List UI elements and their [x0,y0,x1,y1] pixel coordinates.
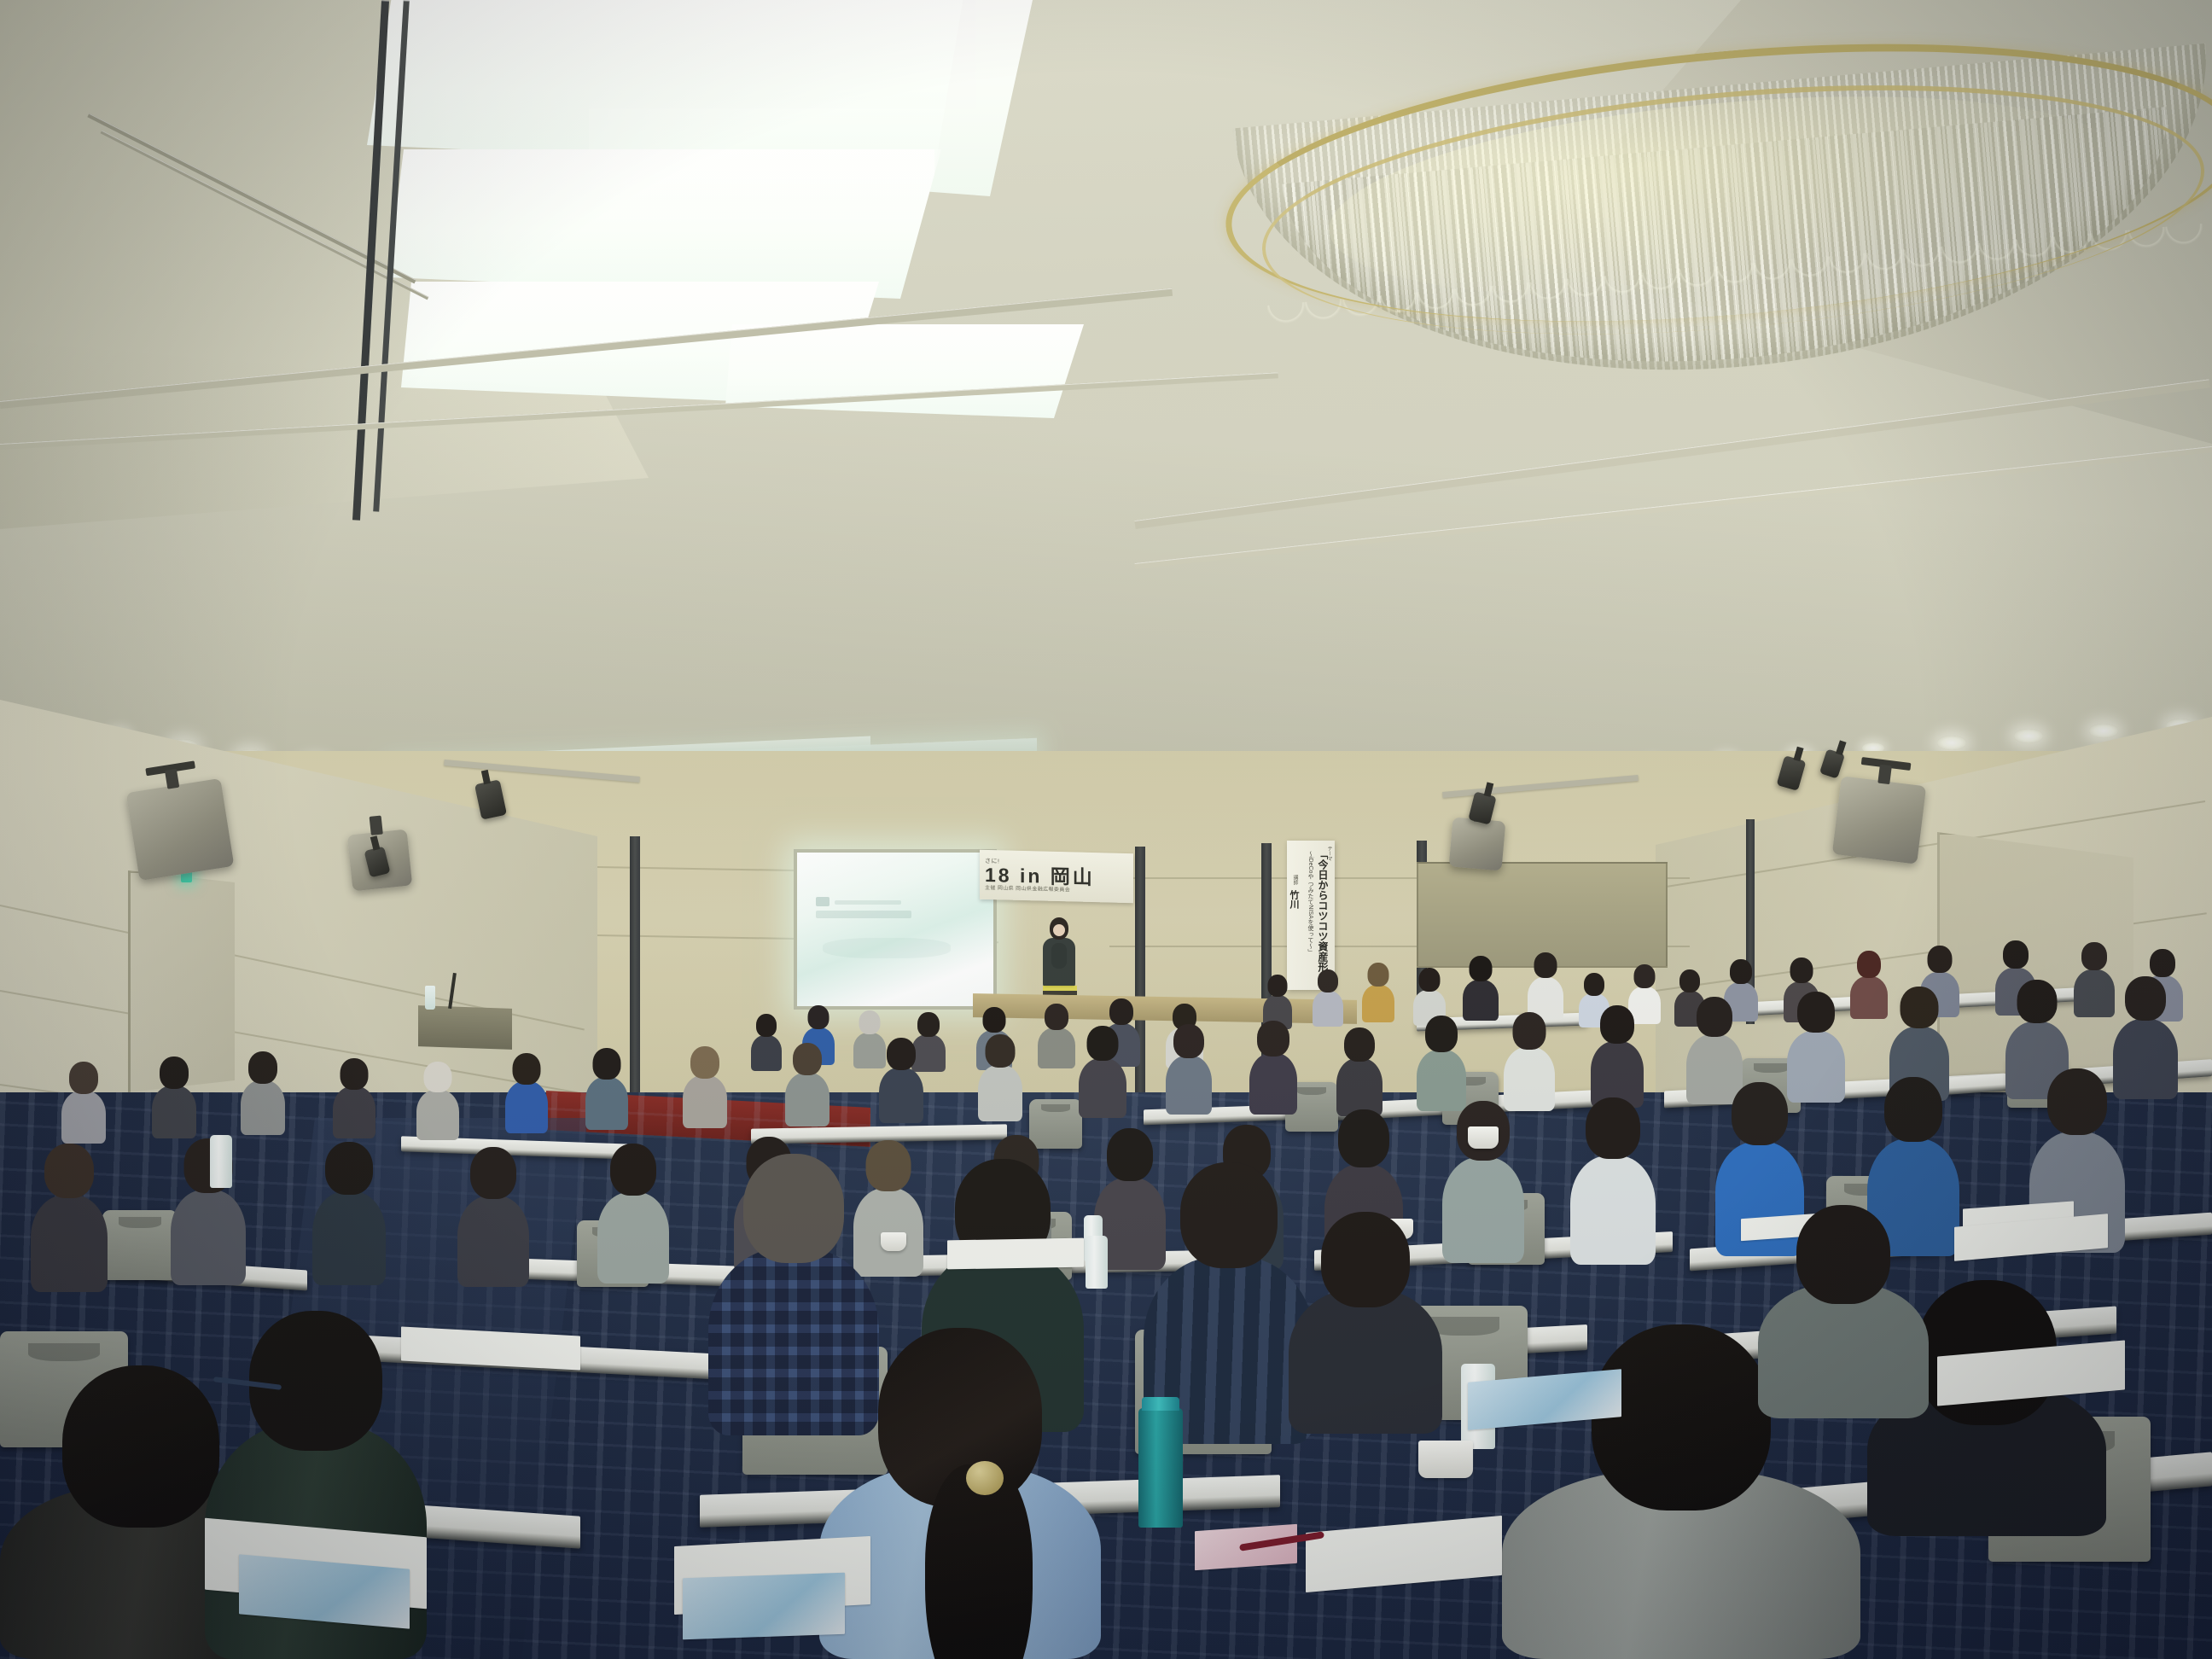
chair[interactable] [102,1210,178,1280]
audience-member [505,1053,548,1133]
person-head [1321,1212,1410,1307]
person-torso [978,1065,1022,1121]
banner-theme-text: 「今日からコツコツ資産形成をはじめよう [1318,849,1328,984]
audience-member [333,1058,375,1138]
water-bottle [1086,1236,1108,1289]
person-head [1318,969,1338,992]
person-torso [1570,1155,1656,1265]
person-head [1634,964,1656,988]
person-torso [1249,1053,1297,1115]
audience-member [61,1062,106,1144]
wall-speaker [126,778,235,881]
stage-banner-vertical: テーマ 「今日からコツコツ資産形成をはじめよう ～iDeCoや つみたてNISA… [1287,841,1335,990]
paper-cup [1468,1126,1499,1149]
presenter [1039,917,1079,996]
audience-member [1463,956,1499,1021]
person-head [2003,940,2029,969]
teal-water-bottle [1138,1408,1183,1528]
presenter-arm [1051,943,1067,969]
audience-member [1079,1026,1126,1118]
wall-pillar [630,836,640,1118]
person-head [1045,1004,1068,1030]
person-head [859,1010,881,1034]
person-head [1730,959,1752,984]
audience-member [31,1144,108,1292]
hair-tie [966,1461,1004,1495]
person-head [1109,998,1133,1025]
person-head [1790,958,1813,983]
person-head [1592,1324,1771,1511]
person-head [1697,997,1732,1037]
paper-cup [1418,1441,1473,1478]
person-head [610,1144,656,1196]
person-head [1584,973,1604,996]
person-torso [585,1077,628,1130]
audience-member [879,1038,923,1123]
person-head [1180,1162,1278,1268]
person-torso [61,1091,106,1144]
slide-mark [835,900,901,905]
person-torso [457,1196,529,1287]
banner-title-text: 18 in 岡山 [985,864,1095,888]
person-head [983,1007,1006,1033]
slide-mark [816,911,911,918]
speaker-mount [370,816,383,835]
audience-member [152,1057,196,1138]
audience-member [597,1144,669,1284]
audience-member [978,1034,1022,1121]
water-bottle [210,1135,232,1188]
person-torso [1850,976,1888,1019]
person-torso [1362,985,1394,1022]
person-head [793,1043,822,1075]
person-head [887,1038,916,1070]
person-torso [31,1195,108,1292]
audience-member-front-ponytail [819,1328,1101,1659]
audience-member [1442,1101,1524,1263]
audience-member [1570,1097,1656,1265]
person-head [424,1062,452,1092]
person-torso [1463,980,1499,1021]
person-torso [333,1086,375,1138]
person-head [1419,968,1441,992]
audience-member [457,1147,529,1287]
audience-member [1528,952,1563,1019]
person-head [1534,952,1557,978]
person-head [1368,963,1389,987]
person-head [69,1062,98,1094]
side-lectern [418,1005,512,1050]
person-head [2150,949,2175,977]
person-head [1679,969,1700,992]
skylight-panel [388,149,934,299]
person-torso [683,1075,727,1128]
audience-member [1289,1212,1442,1434]
person-head [341,1058,369,1090]
person-head [1586,1097,1640,1159]
wall-speaker [1832,776,1926,864]
audience-member [1263,975,1292,1027]
audience-member [785,1043,829,1126]
audience-member [1758,1205,1929,1418]
audience-member [1313,969,1343,1026]
downlight [1937,736,1966,750]
person-head [1087,1026,1119,1061]
person-torso [1289,1289,1442,1434]
person-head [1901,987,1939,1028]
person-head [1470,956,1493,981]
person-head [62,1365,219,1528]
audience-member [1850,951,1888,1019]
banner-subtitle-text: 主催 岡山県 岡山県金融広報委員会 [985,886,1070,893]
person-head [1732,1082,1788,1145]
person-head [2125,976,2166,1021]
person-head [248,1051,277,1084]
person-head [325,1142,373,1195]
person-head [690,1046,719,1079]
person-torso [1079,1058,1126,1118]
audience-member [1362,963,1394,1022]
audience-member [416,1062,459,1140]
person-torso [1038,1027,1075,1068]
person-torso [152,1086,196,1138]
person-head [1928,946,1953,973]
person-torso [1313,991,1343,1027]
audience-member [585,1048,628,1130]
person-head [44,1144,94,1198]
handout-paper [947,1238,1084,1270]
person-torso [1442,1157,1524,1263]
person-head [1884,1077,1942,1142]
audience-member [1166,1024,1212,1115]
person-head [513,1053,541,1085]
person-torso [785,1073,829,1126]
person-head [1338,1109,1389,1167]
audience-member [1504,1012,1555,1111]
person-torso [879,1068,923,1123]
handout-booklet [683,1573,845,1640]
audience-member [171,1138,246,1285]
audience-member [1038,1004,1075,1068]
person-head [1425,1016,1458,1052]
slide-mark [816,897,829,906]
person-head [1257,1021,1289,1057]
projection-screen [794,849,997,1010]
paper-cup [881,1232,906,1251]
seminar-photo: さに! 18 in 岡山 主催 岡山県 岡山県金融広報委員会 テーマ 「今日から… [0,0,2212,1659]
lectern-water-bottle [425,986,435,1010]
speaker-mount [1877,765,1892,785]
person-head [986,1034,1016,1068]
person-head [743,1154,844,1263]
person-head [808,1005,829,1029]
stage-banner-horizontal: さに! 18 in 岡山 主催 岡山県 岡山県金融広報委員会 [980,850,1133,903]
audience-member [241,1051,285,1135]
person-head [2047,1068,2107,1135]
person-head [1344,1027,1375,1062]
person-head [160,1057,189,1089]
person-torso [171,1190,246,1285]
audience-member [1336,1027,1382,1116]
person-torso [241,1080,285,1135]
person-head [1513,1012,1546,1050]
person-head [2081,942,2107,970]
person-head [249,1311,382,1451]
person-head [593,1048,621,1080]
person-head [917,1012,940,1037]
person-head [1796,1205,1890,1304]
person-torso [505,1081,548,1133]
person-head [1797,992,1835,1033]
person-head [2017,980,2058,1023]
person-head [1268,975,1288,997]
person-torso [1336,1058,1382,1116]
audience-member [1591,1005,1644,1108]
audience-member [683,1046,727,1128]
slide-mark [823,938,951,958]
presenter-face [1053,924,1065,936]
audience-member [1417,1016,1466,1111]
wall-speaker [1449,817,1506,870]
audience-member [1249,1021,1297,1115]
person-head [1857,951,1881,978]
person-head [1173,1024,1204,1058]
downlight [2089,724,2118,738]
person-torso [312,1191,386,1285]
person-head [470,1147,516,1199]
person-torso [597,1192,669,1284]
banner-speaker-label: 講師 [1291,875,1299,885]
banner-speaker-name: 竹川 [1287,890,1301,909]
downlight [2014,729,2043,743]
person-torso [751,1035,782,1071]
person-head [1600,1005,1634,1044]
person-torso [1166,1056,1212,1115]
person-torso [2074,969,2115,1017]
person-torso [416,1090,459,1140]
person-head [756,1014,777,1037]
audience-member [751,1014,782,1070]
audience-member [312,1142,386,1285]
banner-theme-sub-text: ～iDeCoや つみたてNISAを使って～」 [1306,851,1314,970]
audience-member [2074,942,2115,1017]
